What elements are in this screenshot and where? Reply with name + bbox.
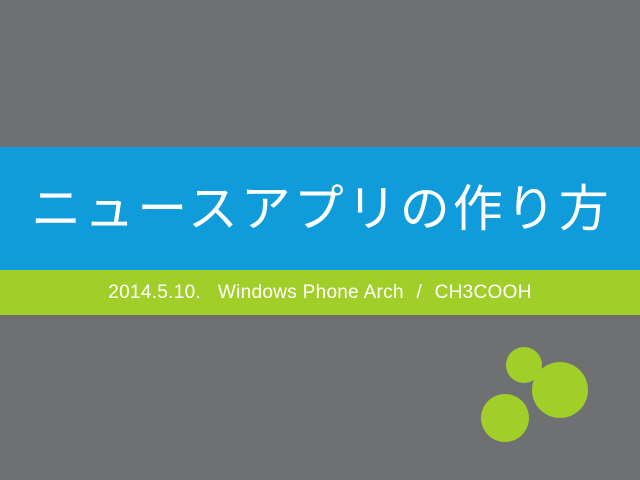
decorative-circle-medium <box>481 394 529 442</box>
subtitle-date: 2014.5.10. <box>108 282 201 303</box>
title-band: ニュースアプリの作り方 <box>0 147 640 270</box>
slide-subtitle: 2014.5.10. Windows Phone Arch / CH3COOH <box>108 283 531 302</box>
title-slide: ニュースアプリの作り方 2014.5.10. Windows Phone Arc… <box>0 0 640 480</box>
subtitle-separator: / <box>409 282 429 303</box>
subtitle-event: Windows Phone Arch <box>218 282 404 303</box>
subtitle-author: CH3COOH <box>435 282 532 303</box>
subtitle-band: 2014.5.10. Windows Phone Arch / CH3COOH <box>0 270 640 315</box>
slide-title: ニュースアプリの作り方 <box>28 184 612 234</box>
decorative-circle-large <box>532 362 588 418</box>
decorative-circle-small <box>506 347 542 383</box>
